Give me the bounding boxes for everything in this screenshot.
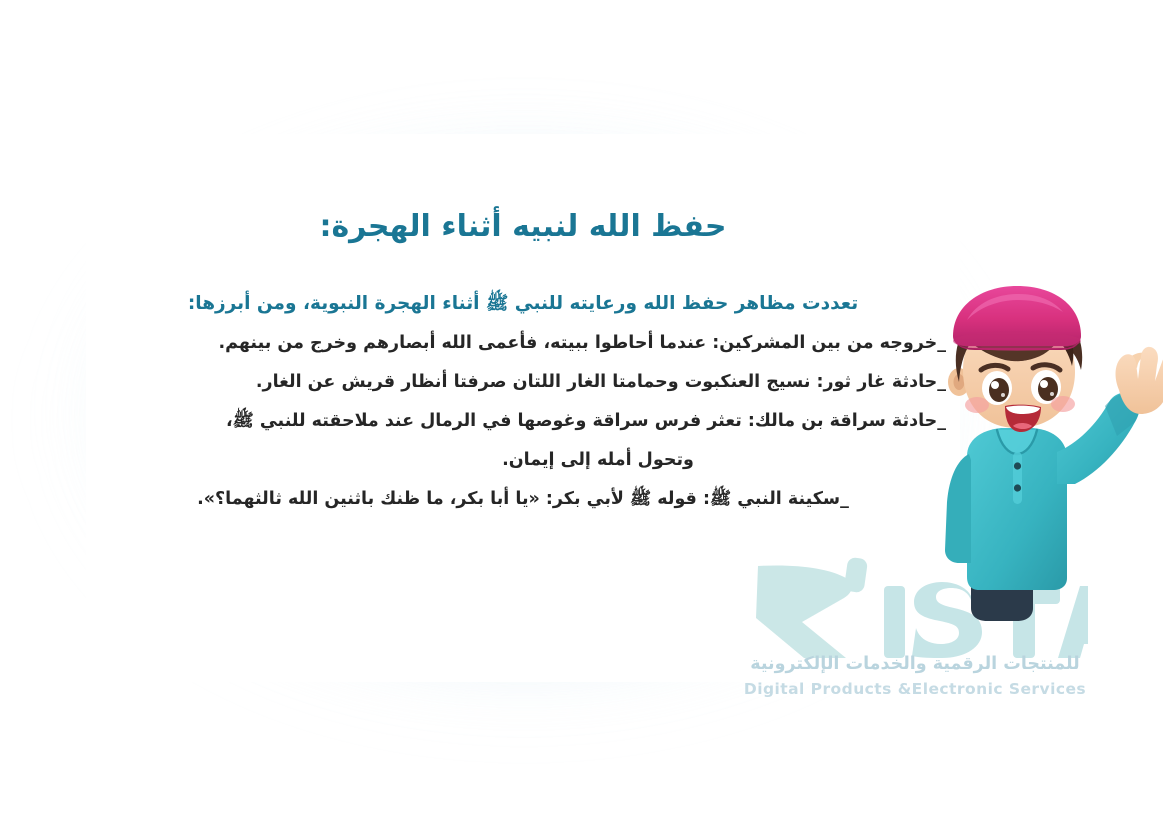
- waving-boy-illustration: [905, 278, 1163, 623]
- slide-canvas: للمنتجات الرقمية والخدمات الإلكترونية Di…: [0, 0, 1170, 827]
- slide-card: [86, 134, 960, 682]
